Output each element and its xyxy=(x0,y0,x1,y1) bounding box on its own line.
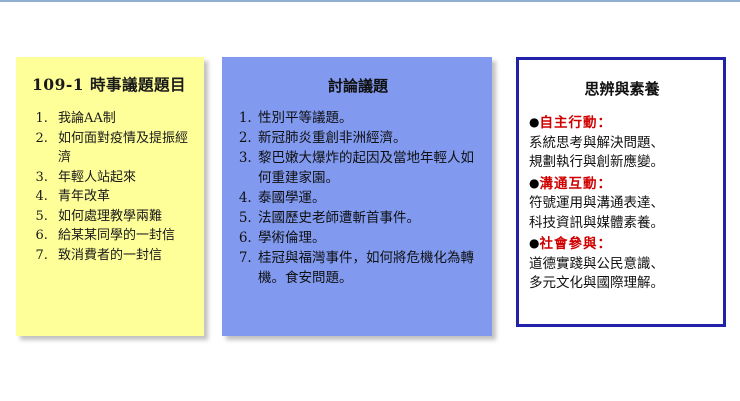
filled-circle-bullet-icon: ● xyxy=(529,236,539,250)
list-item: 如何面對疫情及提振經濟 xyxy=(52,129,196,168)
discussion-panel-title: 討論議題 xyxy=(234,75,482,96)
literacy-group-heading-text: 溝通互動： xyxy=(539,176,612,192)
literacy-group-heading: ●溝通互動： xyxy=(529,174,715,195)
literacy-panel-title: 思辨與素養 xyxy=(529,78,715,99)
literacy-group-line: 系統思考與解決問題、 xyxy=(529,134,715,154)
filled-circle-bullet-icon: ● xyxy=(529,176,539,190)
literacy-group-heading: ●自主行動： xyxy=(529,113,715,134)
list-item: 給某某同學的一封信 xyxy=(52,226,196,246)
topics-panel-title: 109-1 時事議題題目 xyxy=(32,73,196,95)
list-item: 致消費者的一封信 xyxy=(52,246,196,266)
topics-panel: 109-1 時事議題題目 我論AA制 如何面對疫情及提振經濟 年輕人站起來 青年… xyxy=(16,57,204,336)
list-item: 年輕人站起來 xyxy=(52,168,196,188)
list-item: 法國歷史老師遭斬首事件。 xyxy=(256,208,482,228)
literacy-panel: 思辨與素養 ●自主行動： 系統思考與解決問題、 規劃執行與創新應變。 ●溝通互動… xyxy=(516,57,726,327)
list-item: 如何處理教學兩難 xyxy=(52,207,196,227)
literacy-group-line: 科技資訊與媒體素養。 xyxy=(529,214,715,234)
literacy-group: ●自主行動： 系統思考與解決問題、 規劃執行與創新應變。 xyxy=(529,113,715,173)
discussion-panel: 討論議題 性別平等議題。 新冠肺炎重創非洲經濟。 黎巴嫩大爆炸的起因及當地年輕人… xyxy=(222,57,492,336)
list-item: 桂冠與福灣事件，如何將危機化為轉機。食安問題。 xyxy=(256,248,482,288)
literacy-group-heading-text: 社會參與： xyxy=(539,236,612,252)
list-item: 青年改革 xyxy=(52,187,196,207)
literacy-group-line: 多元文化與國際理解。 xyxy=(529,274,715,294)
list-item: 性別平等議題。 xyxy=(256,108,482,128)
literacy-group-heading: ●社會參與： xyxy=(529,234,715,255)
list-item: 新冠肺炎重創非洲經濟。 xyxy=(256,128,482,148)
literacy-group-line: 規劃執行與創新應變。 xyxy=(529,153,715,173)
filled-circle-bullet-icon: ● xyxy=(529,115,539,129)
topics-list: 我論AA制 如何面對疫情及提振經濟 年輕人站起來 青年改革 如何處理教學兩難 給… xyxy=(26,109,196,265)
list-item: 泰國學運。 xyxy=(256,188,482,208)
literacy-group: ●溝通互動： 符號運用與溝通表達、 科技資訊與媒體素養。 xyxy=(529,174,715,234)
literacy-group-line: 道德實踐與公民意識、 xyxy=(529,255,715,275)
discussion-list: 性別平等議題。 新冠肺炎重創非洲經濟。 黎巴嫩大爆炸的起因及當地年輕人如何重建家… xyxy=(234,108,482,288)
literacy-group-line: 符號運用與溝通表達、 xyxy=(529,194,715,214)
literacy-group: ●社會參與： 道德實踐與公民意識、 多元文化與國際理解。 xyxy=(529,234,715,294)
list-item: 我論AA制 xyxy=(52,109,196,129)
list-item: 黎巴嫩大爆炸的起因及當地年輕人如何重建家園。 xyxy=(256,148,482,188)
top-divider-rule xyxy=(0,0,740,2)
literacy-group-heading-text: 自主行動： xyxy=(539,115,612,131)
list-item: 學術倫理。 xyxy=(256,228,482,248)
